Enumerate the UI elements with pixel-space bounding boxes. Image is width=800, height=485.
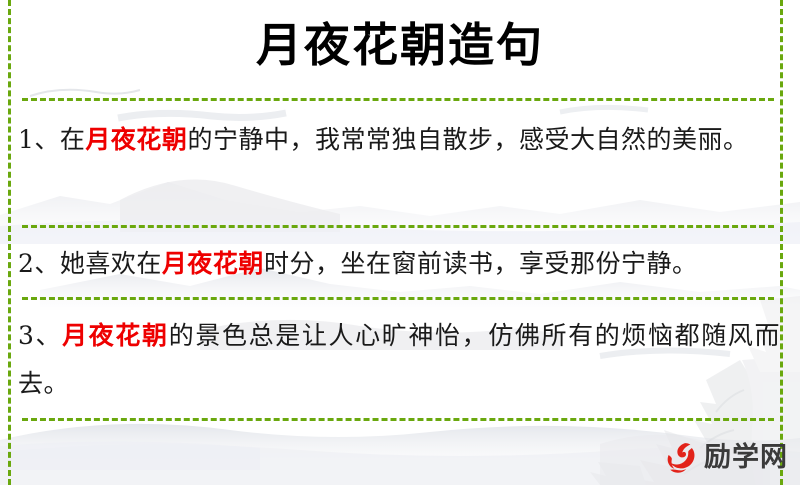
divider-after-sentence-3 <box>22 418 774 421</box>
divider-after-sentence-2 <box>22 297 774 300</box>
sentence-2-text-before: 她喜欢在 <box>60 249 162 278</box>
sentence-2-number: 2、 <box>18 249 60 278</box>
example-sentence-1: 1、在月夜花朝的宁静中，我常常独自散步，感受大自然的美丽。 <box>18 116 780 164</box>
example-sentence-3: 3、月夜花朝的景色总是让人心旷神怡，仿佛所有的烦恼都随风而去。 <box>18 312 780 408</box>
site-logo-text: 励学网 <box>704 441 788 475</box>
sentence-1-text-before: 在 <box>60 125 86 154</box>
sentence-3-number: 3、 <box>18 321 62 350</box>
page-title: 月夜花朝造句 <box>0 14 800 76</box>
divider-top <box>22 98 774 101</box>
sentence-1-keyword: 月夜花朝 <box>85 125 187 154</box>
sentence-3-keyword: 月夜花朝 <box>62 321 169 350</box>
divider-after-sentence-1 <box>22 225 774 228</box>
example-sentence-2: 2、她喜欢在月夜花朝时分，坐在窗前读书，享受那份宁静。 <box>18 240 780 288</box>
flame-swirl-icon <box>664 441 698 475</box>
site-logo-watermark[interactable]: 励学网 <box>664 439 788 477</box>
sentence-2-keyword: 月夜花朝 <box>162 249 264 278</box>
sentence-1-number: 1、 <box>18 125 60 154</box>
document-content: 月夜花朝造句 1、在月夜花朝的宁静中，我常常独自散步，感受大自然的美丽。 2、她… <box>0 0 800 485</box>
sentence-1-text-after: 的宁静中，我常常独自散步，感受大自然的美丽。 <box>187 125 748 154</box>
sentence-2-text-after: 时分，坐在窗前读书，享受那份宁静。 <box>264 249 698 278</box>
